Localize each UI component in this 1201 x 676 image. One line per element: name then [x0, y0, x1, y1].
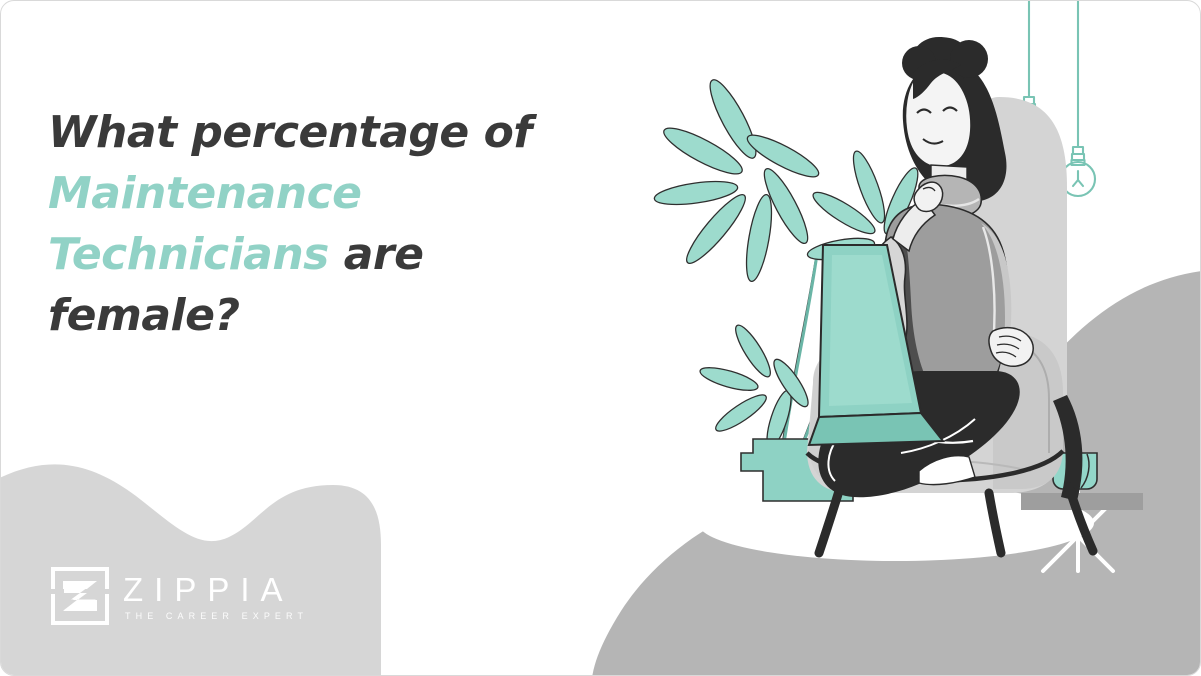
plant-frond-cluster-3 — [698, 321, 813, 450]
headline-line-3-tail: are — [329, 229, 424, 280]
logo-name: ZIPPIA — [123, 573, 308, 608]
logo-wordmark: ZIPPIA THE CAREER EXPERT — [123, 571, 308, 621]
illustration-woman-thinking — [601, 1, 1201, 676]
decorative-blob-left — [0, 441, 381, 676]
infographic-card: What percentage of Maintenance Technicia… — [0, 0, 1201, 676]
laptop-base — [809, 413, 943, 445]
logo-tagline: THE CAREER EXPERT — [125, 611, 308, 621]
zippia-logo[interactable]: ZIPPIA THE CAREER EXPERT — [51, 567, 308, 625]
zippia-z-mark-icon — [51, 567, 109, 625]
headline-accent-b: Technicians — [48, 229, 329, 280]
plant-frond-cluster-1 — [653, 75, 823, 283]
headline-line-1: What percentage of — [48, 107, 532, 158]
headline-line-4: female? — [48, 290, 239, 341]
headline-accent-a: Maintenance — [48, 168, 362, 219]
page-title: What percentage of Maintenance Technicia… — [48, 102, 608, 346]
side-table-top — [1021, 493, 1143, 510]
